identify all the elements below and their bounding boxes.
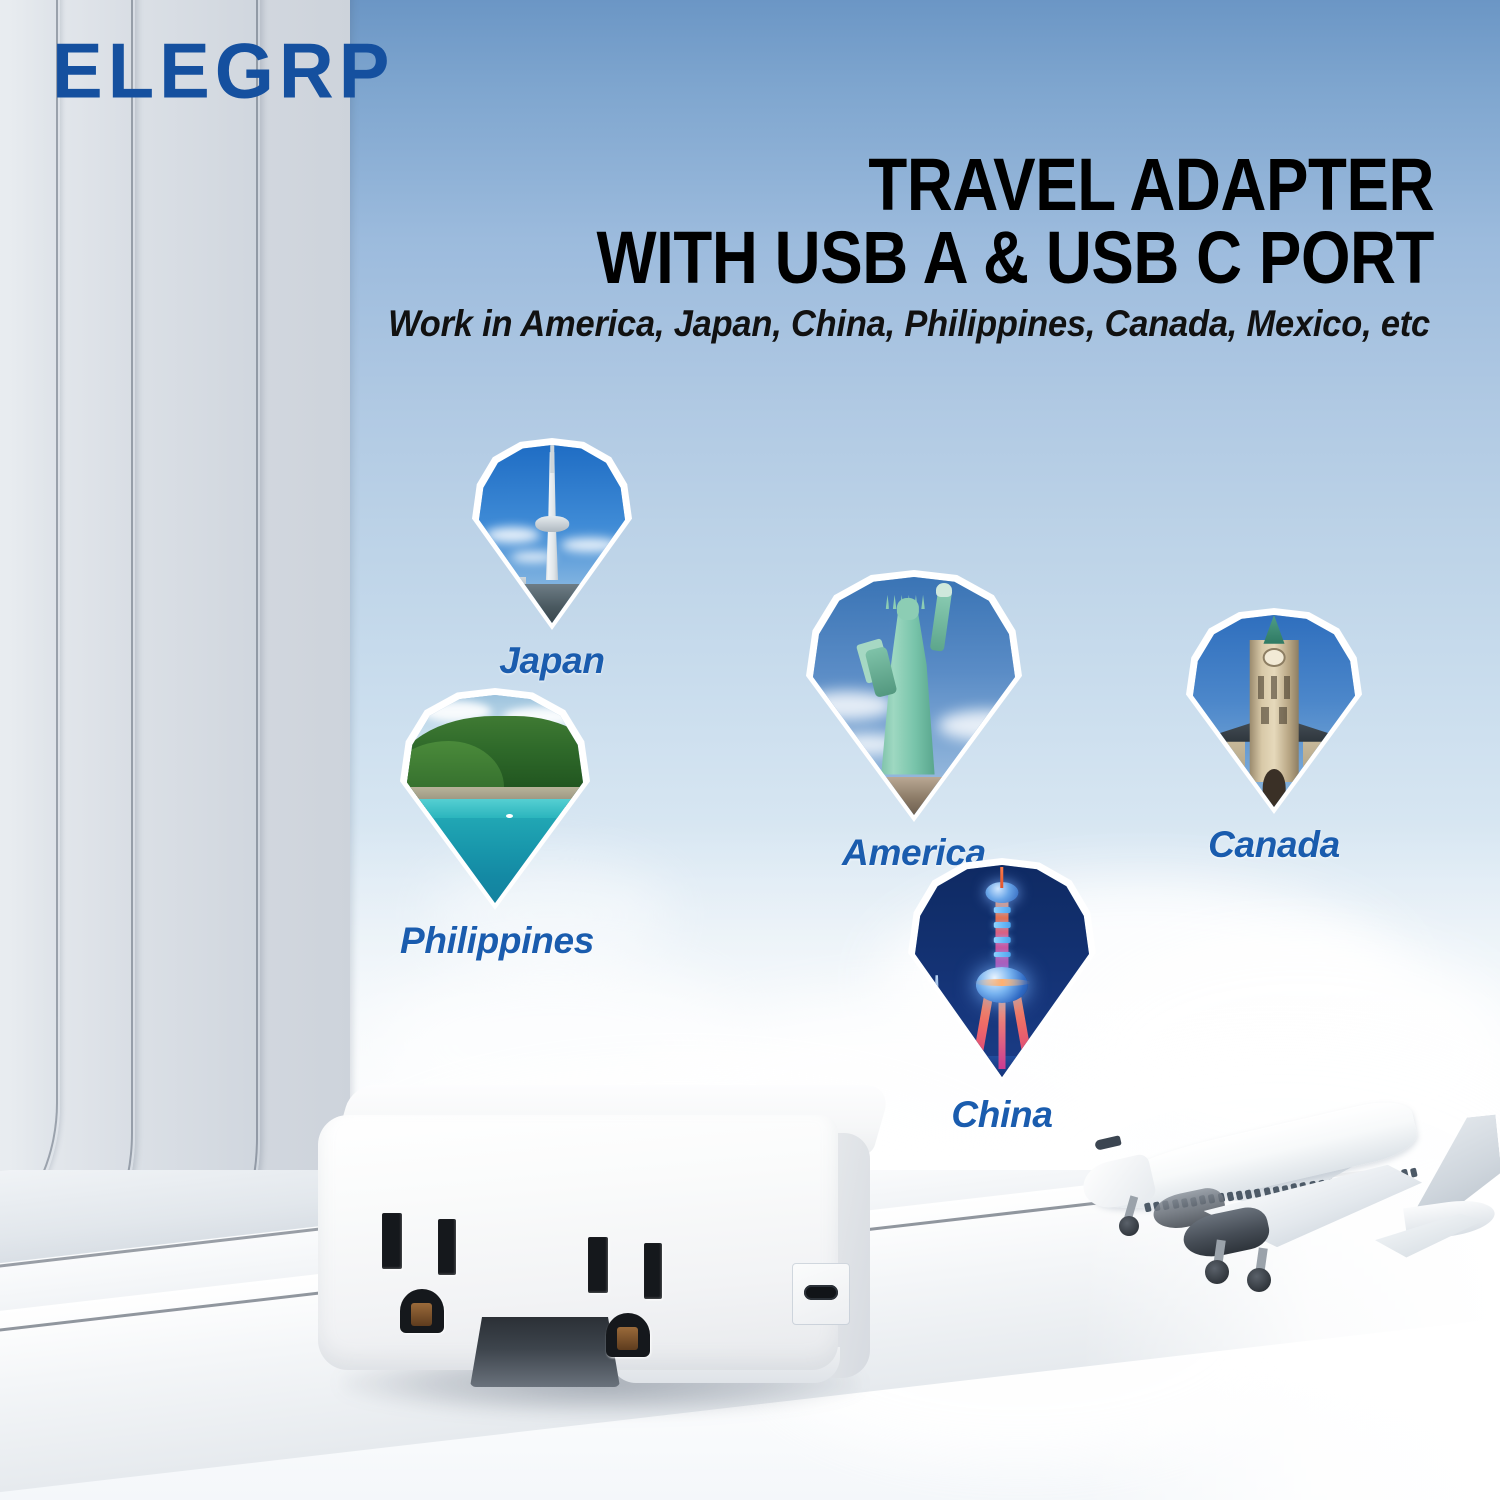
- pin-marker-shape: [472, 438, 632, 630]
- photo-tower-leg: [999, 996, 1006, 1068]
- plane-cabin-window: [1410, 1168, 1418, 1178]
- crown-spike: [907, 595, 911, 609]
- plane-main-wheel: [1205, 1260, 1229, 1284]
- outlet-slot-neutral: [382, 1213, 402, 1269]
- pin-label-china: China: [908, 1094, 1096, 1136]
- photo-tower-segment: [994, 937, 1011, 943]
- photo-tower-window: [1284, 676, 1290, 699]
- product-marketing-image: ELEGRP TRAVEL ADAPTER WITH USB A & USB C…: [0, 0, 1500, 1500]
- ac-outlet-left: [372, 1213, 502, 1333]
- outlet-ground-hole: [400, 1289, 444, 1333]
- plane-nose-wheel: [1119, 1216, 1139, 1236]
- plane-cabin-window: [1254, 1188, 1262, 1198]
- ac-outlet-right: [578, 1237, 708, 1357]
- outlet-slot-hot: [438, 1219, 456, 1275]
- photo-cloud: [561, 538, 619, 552]
- outlet-slot-hot: [644, 1243, 662, 1299]
- pin-marker-shape: [400, 688, 590, 910]
- outlet-ground-hole: [606, 1313, 650, 1357]
- pin-photo-canada: [1193, 615, 1355, 807]
- photo-parliament-wing: [1303, 738, 1355, 807]
- photo-statue-pedestal: [868, 777, 949, 815]
- photo-tower-base: [505, 584, 598, 623]
- pin-photo-japan: [479, 445, 625, 623]
- product-travel-adapter: [310, 1085, 890, 1405]
- photo-tower-segment: [994, 952, 1011, 958]
- plane-cabin-window: [1245, 1189, 1253, 1199]
- photo-tower-mast: [550, 445, 554, 473]
- subtitle: Work in America, Japan, China, Philippin…: [333, 303, 1430, 345]
- plane-cabin-window: [1226, 1192, 1234, 1202]
- photo-tower-observatory: [535, 516, 569, 532]
- map-pin-china: China: [908, 858, 1096, 1136]
- plane-cabin-window: [1144, 1202, 1152, 1212]
- photo-cloud: [485, 527, 540, 543]
- pin-photo-america: [813, 577, 1015, 815]
- pin-marker-shape: [1186, 608, 1362, 814]
- photo-tower-archway: [1263, 769, 1286, 807]
- photo-tower-segment: [994, 922, 1011, 928]
- photo-tower-window: [1258, 676, 1264, 699]
- photo-parliament-wing: [1193, 738, 1245, 807]
- photo-cityscape: [488, 577, 526, 605]
- photo-statue-crown: [886, 595, 930, 609]
- map-pin-canada: Canada: [1186, 608, 1362, 866]
- window-frame-seam: [0, 0, 58, 1288]
- map-pin-japan: Japan: [472, 438, 632, 682]
- photo-statue-torch: [936, 583, 952, 597]
- usb-c-port: [804, 1285, 838, 1300]
- airplane-taking-off: [1075, 1130, 1500, 1340]
- photo-tower-antenna: [1000, 867, 1003, 888]
- photo-tower-clock: [1263, 648, 1286, 667]
- photo-boat: [506, 814, 513, 818]
- crown-spike: [921, 595, 925, 609]
- outlet-slot-neutral: [588, 1237, 608, 1293]
- ground-contact: [411, 1303, 431, 1326]
- crown-spike: [900, 595, 904, 609]
- page-title: TRAVEL ADAPTER WITH USB A & USB C PORT: [436, 148, 1434, 295]
- crown-spike: [893, 595, 897, 609]
- photo-shallow-water: [407, 799, 583, 818]
- map-pin-america: America: [806, 570, 1022, 874]
- headline-line-2: WITH USB A & USB C PORT: [436, 221, 1434, 294]
- pin-label-canada: Canada: [1186, 824, 1362, 866]
- photo-tower-window: [1271, 676, 1277, 699]
- brand-logo: ELEGRP: [52, 33, 395, 111]
- plane-main-wheel: [1247, 1268, 1271, 1292]
- plane-cockpit-window: [1094, 1135, 1122, 1151]
- plane-cabin-window: [1236, 1190, 1244, 1200]
- pin-photo-philippines: [407, 695, 583, 903]
- photo-tower-window: [1261, 707, 1269, 724]
- pin-label-japan: Japan: [472, 640, 632, 682]
- map-pin-philippines: Philippines: [400, 688, 590, 962]
- pin-marker-shape: [806, 570, 1022, 822]
- photo-tower-window: [1279, 707, 1287, 724]
- headline-line-1: TRAVEL ADAPTER: [868, 143, 1434, 226]
- pin-photo-china: [915, 865, 1089, 1077]
- ground-contact: [617, 1327, 637, 1350]
- pin-label-philippines: Philippines: [400, 920, 590, 962]
- crown-spike: [914, 595, 918, 609]
- pin-marker-shape: [908, 858, 1096, 1084]
- photo-tower-segment: [994, 907, 1011, 913]
- crown-spike: [886, 595, 890, 609]
